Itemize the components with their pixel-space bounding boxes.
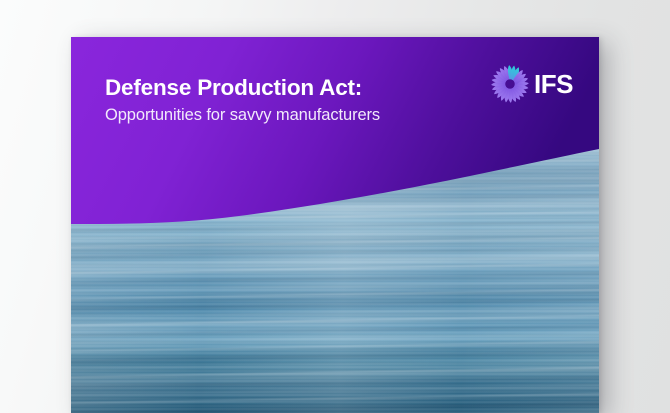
page-canvas: Defense Production Act: Opportunities fo… [0, 0, 670, 413]
ifs-wordmark: IFS [534, 71, 573, 97]
cover-subtitle: Opportunities for savvy manufacturers [105, 106, 380, 125]
cover-title: Defense Production Act: [105, 75, 380, 101]
cover-title-block: Defense Production Act: Opportunities fo… [105, 75, 380, 125]
ifs-spiral-icon [490, 64, 530, 104]
brochure-cover[interactable]: Defense Production Act: Opportunities fo… [71, 37, 599, 413]
ifs-logo[interactable]: IFS [490, 64, 573, 104]
